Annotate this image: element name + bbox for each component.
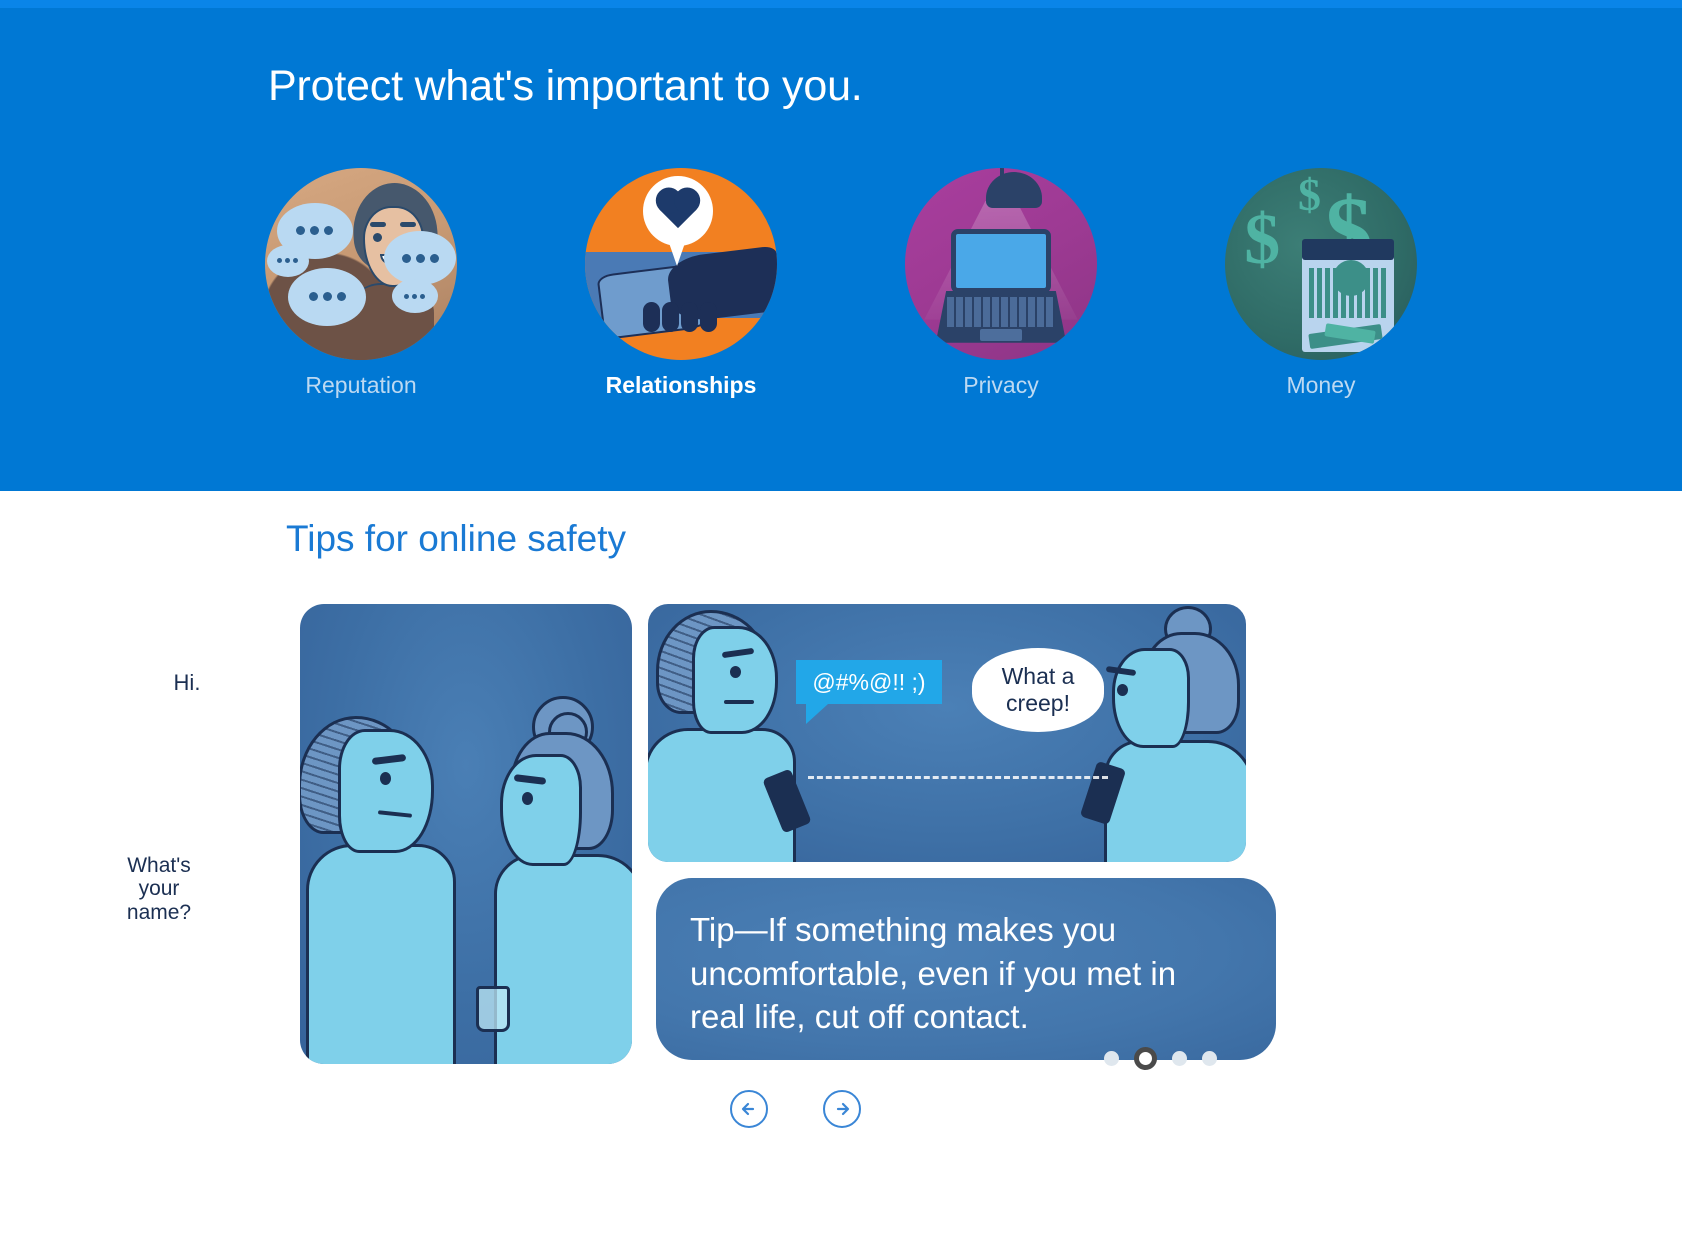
speech-bubble-whats-your-name: What's your name? (106, 836, 212, 942)
category-label-privacy: Privacy (963, 372, 1038, 399)
carousel-dot-2[interactable] (1134, 1047, 1157, 1070)
page-title: Protect what's important to you. (268, 62, 863, 111)
carousel-dots (1104, 1047, 1217, 1070)
tip-text: Tip—If something makes you uncomfortable… (690, 908, 1230, 1039)
category-label-reputation: Reputation (305, 372, 416, 399)
money-icon: $ $ $ (1225, 168, 1417, 360)
category-label-relationships: Relationships (606, 372, 757, 399)
speech-bubble-hi: Hi. (152, 648, 222, 718)
carousel-dot-4[interactable] (1202, 1051, 1217, 1066)
relationships-icon (585, 168, 777, 360)
category-label-money: Money (1286, 372, 1355, 399)
privacy-icon (905, 168, 1097, 360)
speech-bubble-what-a-creep: What a creep! (972, 648, 1104, 732)
reputation-icon (265, 168, 457, 360)
carousel-dot-3[interactable] (1172, 1051, 1187, 1066)
previous-arrow-icon[interactable] (730, 1090, 768, 1128)
hero-banner: Protect what's important to you. (0, 0, 1682, 491)
carousel-navigation (730, 1090, 861, 1128)
category-item-privacy[interactable]: Privacy (886, 168, 1116, 399)
category-list: Reputation Relationships (246, 168, 1436, 398)
category-item-relationships[interactable]: Relationships (566, 168, 796, 399)
category-item-money[interactable]: $ $ $ Money (1206, 168, 1436, 399)
texting-comic-panel (648, 604, 1246, 862)
category-item-reputation[interactable]: Reputation (246, 168, 476, 399)
meeting-comic-panel (300, 604, 632, 1064)
chat-message-bubble: @#%@!! ;) (796, 660, 942, 704)
top-accent-strip (0, 0, 1682, 8)
carousel-dot-1[interactable] (1104, 1051, 1119, 1066)
next-arrow-icon[interactable] (823, 1090, 861, 1128)
section-heading-tips: Tips for online safety (286, 518, 626, 560)
